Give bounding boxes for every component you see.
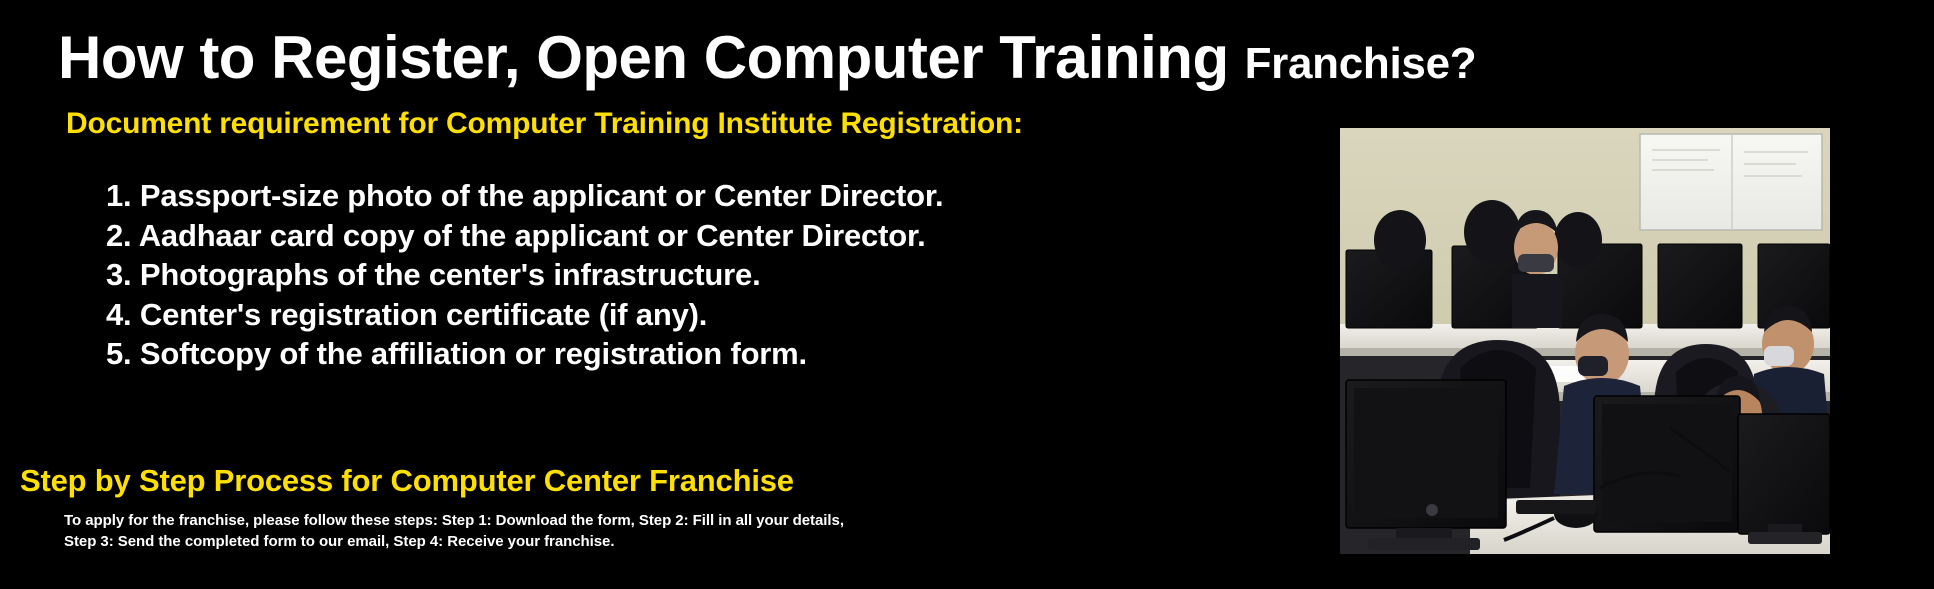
computer-lab-photo [1340,128,1830,554]
list-item-number: 2. [106,216,131,256]
list-item: 5. Softcopy of the affiliation or regist… [106,334,943,374]
step-process-heading: Step by Step Process for Computer Center… [20,463,794,499]
list-item: 3. Photographs of the center's infrastru… [106,255,943,295]
list-item-label: Aadhaar card copy of the applicant or Ce… [139,218,926,253]
page-title-main: How to Register, Open Computer Training [58,26,1229,89]
document-requirement-list: 1. Passport-size photo of the applicant … [106,176,943,374]
page-title-suffix: Franchise? [1245,41,1477,87]
list-item-number: 3. [106,255,131,295]
list-item-number: 1. [106,176,131,216]
list-item: 4. Center's registration certificate (if… [106,295,943,335]
slide-canvas: How to Register, Open Computer Training … [0,0,1934,589]
list-item: 2. Aadhaar card copy of the applicant or… [106,216,943,256]
document-requirement-heading: Document requirement for Computer Traini… [66,107,1023,141]
list-item-label: Passport-size photo of the applicant or … [140,178,944,213]
list-item: 1. Passport-size photo of the applicant … [106,176,943,216]
computer-lab-illustration [1340,128,1830,554]
step-process-paragraph: To apply for the franchise, please follo… [64,510,854,552]
list-item-label: Softcopy of the affiliation or registrat… [140,336,807,371]
list-item-label: Center's registration certificate (if an… [140,297,707,332]
list-item-label: Photographs of the center's infrastructu… [140,257,761,292]
page-title: How to Register, Open Computer Training … [58,26,1476,89]
list-item-number: 4. [106,295,131,335]
list-item-number: 5. [106,334,131,374]
